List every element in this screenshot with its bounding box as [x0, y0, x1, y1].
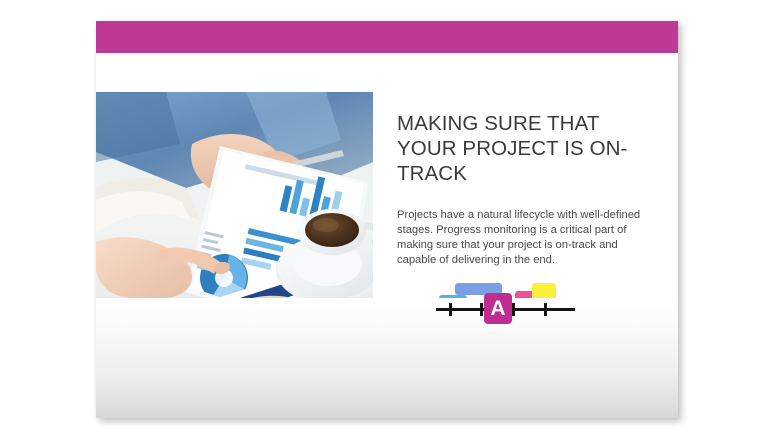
- timeline-tick-2: [480, 303, 483, 316]
- screenshot-canvas: MAKING SURE THAT YOUR PROJECT IS ON-TRAC…: [0, 0, 770, 440]
- milestone-badge-label: A: [490, 298, 505, 319]
- slide-body-text: Projects have a natural lifecycle with w…: [397, 208, 647, 268]
- timeline-tick-4: [544, 303, 547, 316]
- slide-bottom-gradient: [96, 298, 678, 418]
- timeline-tick-3: [512, 303, 515, 316]
- milestone-badge: A: [484, 293, 512, 324]
- presentation-slide: MAKING SURE THAT YOUR PROJECT IS ON-TRAC…: [96, 21, 678, 418]
- page-title: MAKING SURE THAT YOUR PROJECT IS ON-TRAC…: [397, 111, 647, 186]
- slide-text-column: MAKING SURE THAT YOUR PROJECT IS ON-TRAC…: [397, 111, 647, 268]
- timeline-tick-1: [449, 303, 452, 316]
- slide-header-band: [96, 21, 678, 53]
